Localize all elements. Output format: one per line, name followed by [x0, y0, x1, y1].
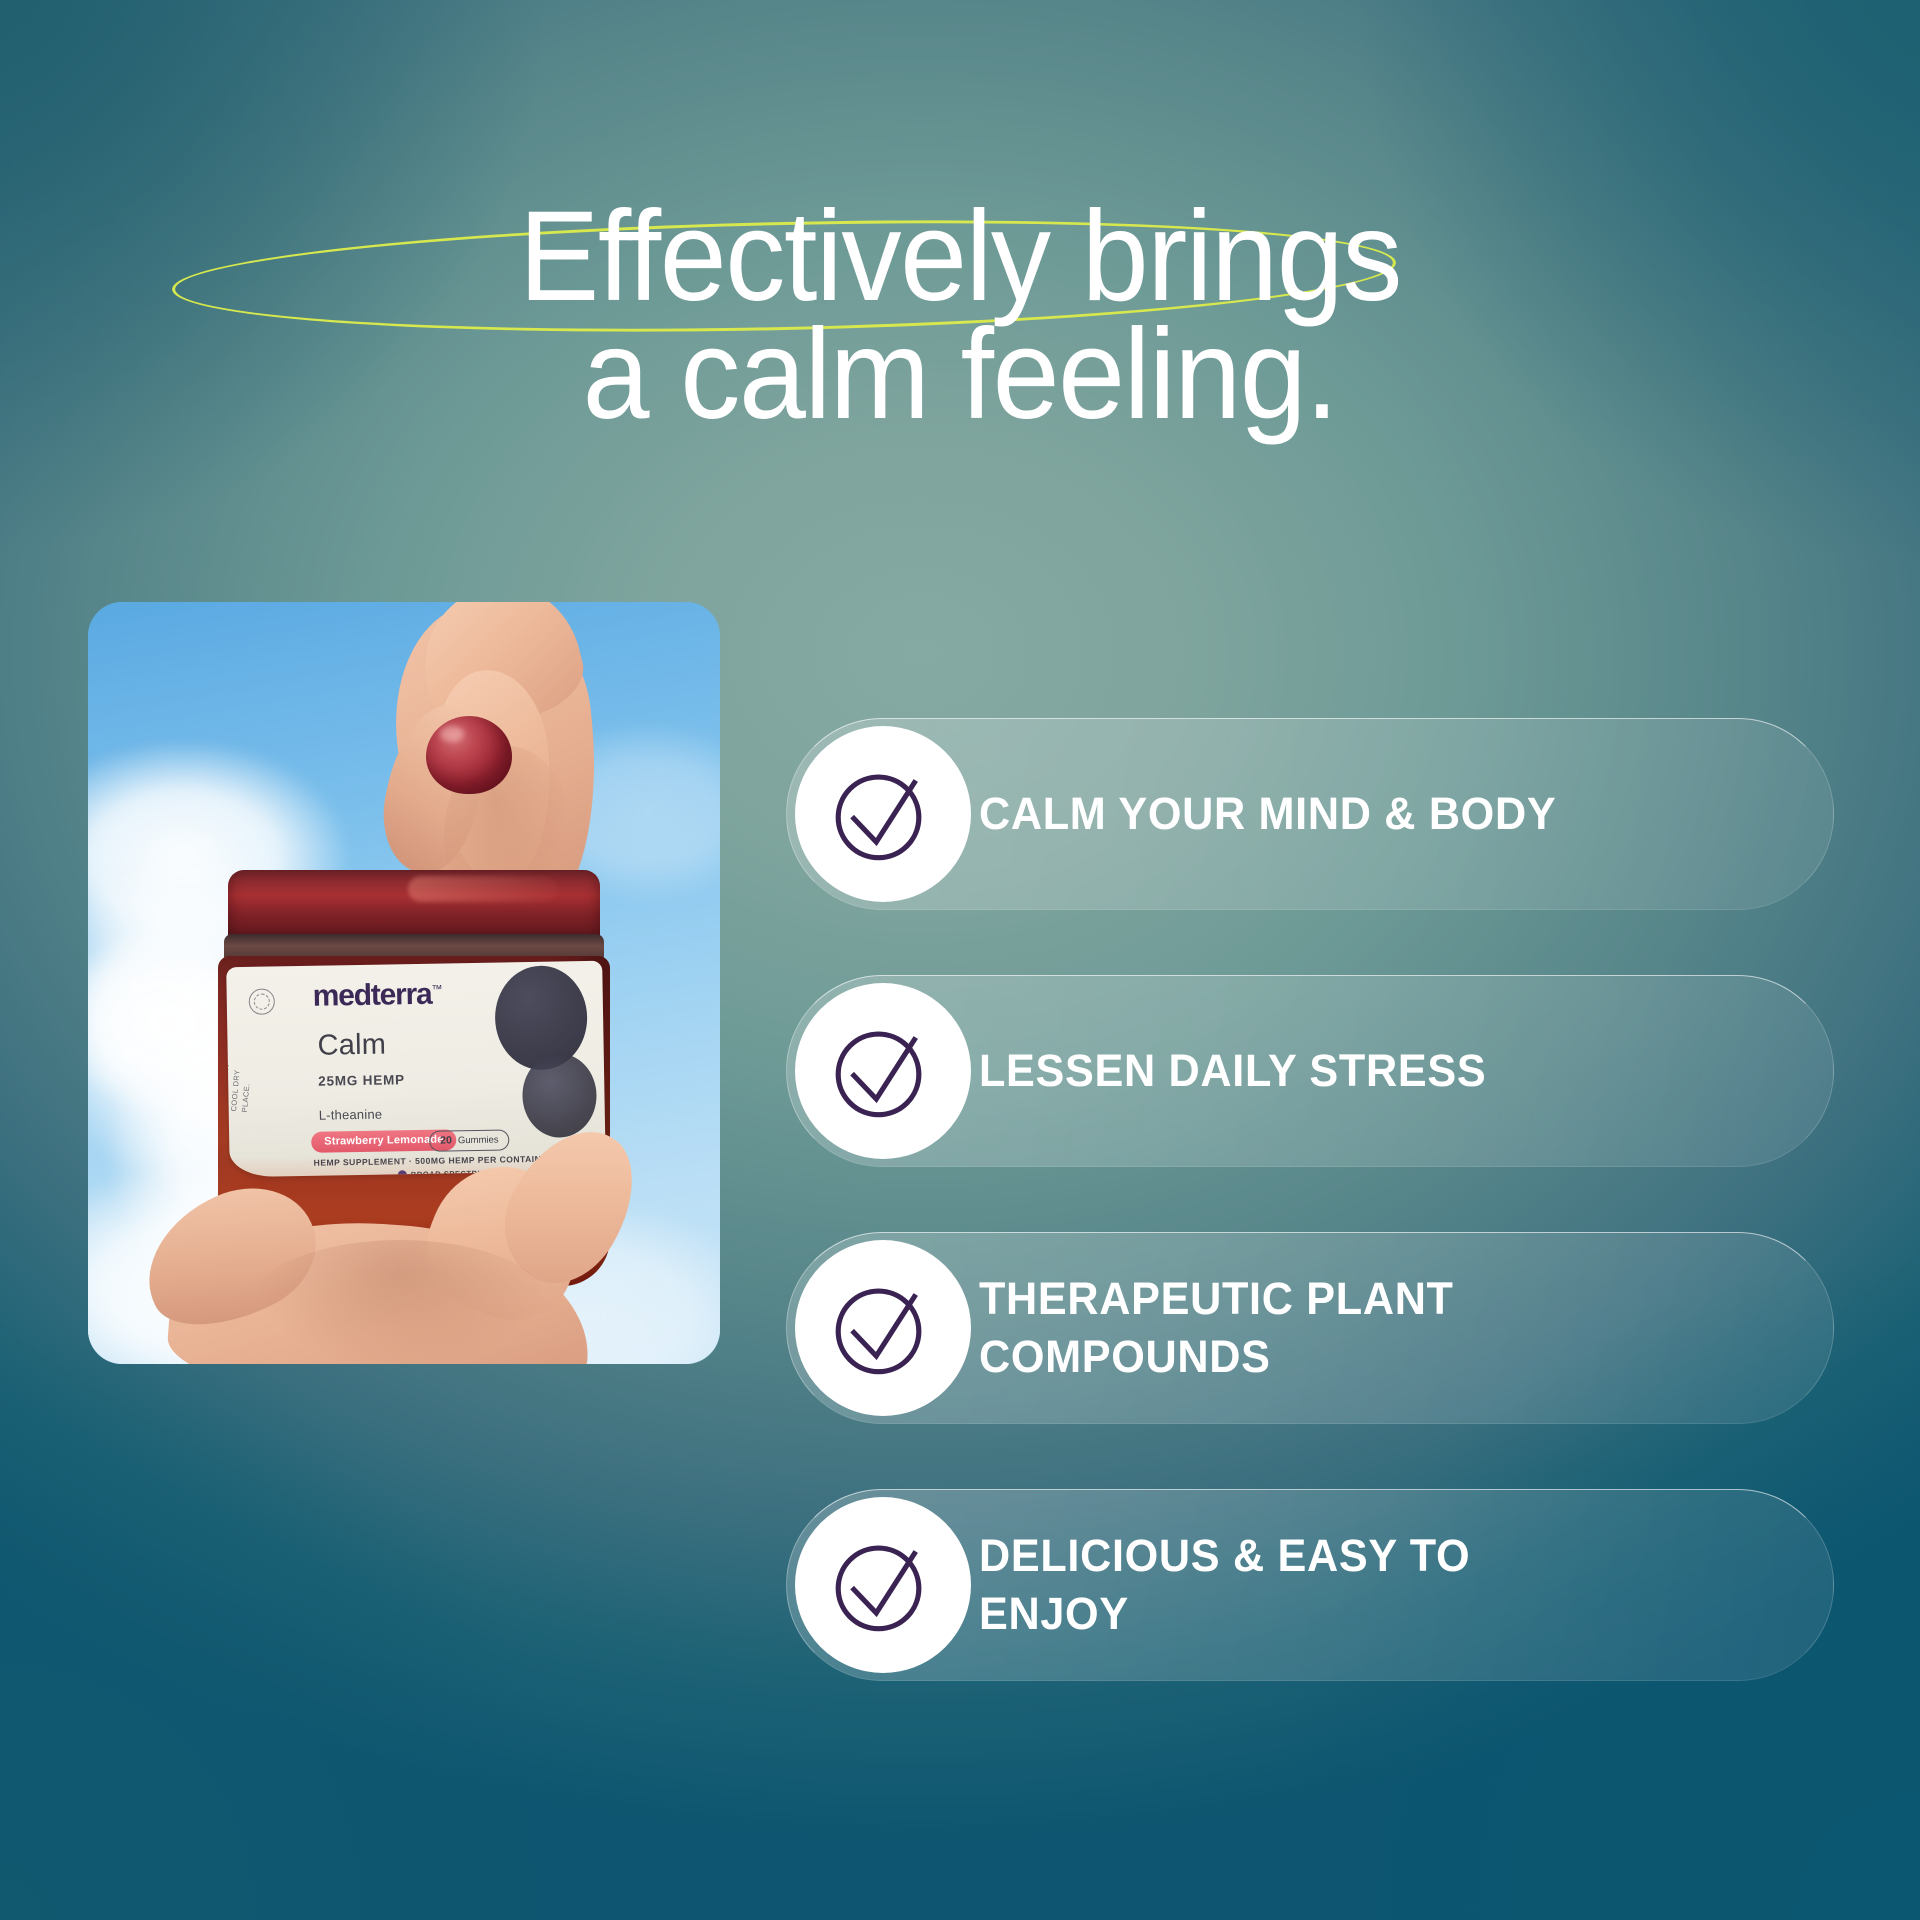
page-headline: Effectively brings a calm feeling.: [0, 198, 1920, 434]
jar-lid: [228, 870, 600, 944]
benefit-label: LESSEN DAILY STRESS: [979, 1042, 1486, 1100]
label-decorative-blob: [522, 1053, 597, 1138]
benefit-card-calm-your-mind-body[interactable]: CALM YOUR MIND & BODY: [786, 718, 1834, 910]
headline-line-1: Effectively brings: [58, 198, 1863, 316]
lower-hand: [130, 1162, 650, 1364]
headline-line-2: a calm feeling.: [58, 316, 1863, 434]
product-name: Calm: [317, 1029, 386, 1063]
check-circle-icon: [795, 726, 971, 902]
gummy-candy: [426, 716, 512, 794]
benefit-card-lessen-daily-stress[interactable]: LESSEN DAILY STRESS: [786, 975, 1834, 1167]
product-dose: 25MG HEMP: [318, 1072, 405, 1089]
benefit-card-delicious-easy-to-enjoy[interactable]: DELICIOUS & EASY TO ENJOY: [786, 1489, 1834, 1681]
jar-label: KEEP OUT OF REACH OF CHILDREN. STORE IN …: [226, 961, 606, 1178]
label-certification-seal: [249, 988, 275, 1014]
brand-wordmark: medterra™: [312, 978, 441, 1014]
check-circle-icon: [795, 1240, 971, 1416]
label-decorative-blob: [494, 965, 588, 1071]
benefit-label: DELICIOUS & EASY TO ENJOY: [979, 1527, 1613, 1643]
product-ingredient: L-theanine: [319, 1107, 383, 1123]
check-circle-icon: [795, 983, 971, 1159]
product-photo: KEEP OUT OF REACH OF CHILDREN. STORE IN …: [88, 602, 720, 1364]
count-number: 20: [440, 1134, 452, 1146]
hand-shading: [250, 1240, 550, 1364]
benefit-card-therapeutic-plant-compounds[interactable]: THERAPEUTIC PLANT COMPOUNDS: [786, 1232, 1834, 1424]
gummy-count-badge: 20 Gummies: [429, 1129, 510, 1151]
count-word: Gummies: [458, 1134, 499, 1146]
benefit-label: THERAPEUTIC PLANT COMPOUNDS: [979, 1270, 1613, 1386]
brand-name: medterra: [312, 978, 431, 1013]
benefit-label: CALM YOUR MIND & BODY: [979, 785, 1556, 843]
benefits-list: CALM YOUR MIND & BODYLESSEN DAILY STRESS…: [786, 718, 1834, 1681]
trademark-symbol: ™: [431, 984, 441, 996]
check-circle-icon: [795, 1497, 971, 1673]
